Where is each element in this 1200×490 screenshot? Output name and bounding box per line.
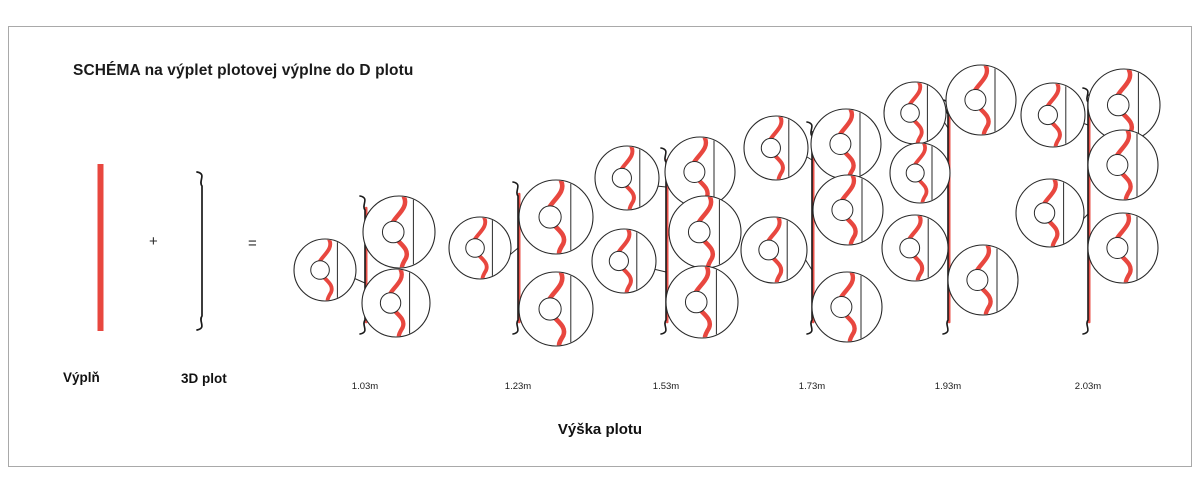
detail-callout xyxy=(669,196,741,268)
post-cross-section xyxy=(1107,155,1128,176)
detail-callout xyxy=(449,217,511,279)
post-cross-section xyxy=(832,200,853,221)
diagram-canvas: SCHÉMA na výplet plotovej výplne do D pl… xyxy=(0,0,1200,490)
equals-symbol: = xyxy=(248,235,257,252)
plus-symbol: + xyxy=(149,233,158,250)
post-cross-section xyxy=(906,164,924,182)
detail-callout xyxy=(592,229,656,293)
fence-post xyxy=(943,100,948,334)
post-cross-section xyxy=(311,261,330,280)
post-cross-section xyxy=(1107,238,1128,259)
post-cross-section xyxy=(1107,94,1129,116)
height-label-1.73m: 1.73m xyxy=(799,381,825,392)
legend-fill-label: Výplň xyxy=(63,370,100,385)
post-cross-section xyxy=(466,239,485,258)
post-cross-section xyxy=(1038,105,1057,124)
legend-fill-strip-icon xyxy=(98,164,104,331)
detail-callout xyxy=(1088,130,1158,200)
fence-group-1.73m xyxy=(741,109,883,342)
detail-callout xyxy=(1088,213,1158,283)
height-label-1.03m: 1.03m xyxy=(352,381,378,392)
height-label-2.03m: 2.03m xyxy=(1075,381,1101,392)
detail-callout xyxy=(519,180,593,254)
detail-callout xyxy=(884,82,946,144)
legend-post-label: 3D plot xyxy=(181,371,227,386)
post-cross-section xyxy=(831,297,852,318)
detail-callout xyxy=(741,217,807,283)
detail-callout xyxy=(666,266,738,338)
page-title: SCHÉMA na výplet plotovej výplne do D pl… xyxy=(73,62,413,80)
detail-callout xyxy=(519,272,593,346)
detail-callout xyxy=(948,245,1018,315)
post-cross-section xyxy=(685,291,707,313)
post-cross-section xyxy=(761,138,780,157)
post-cross-section xyxy=(965,90,986,111)
post-cross-section xyxy=(900,238,920,258)
detail-callout xyxy=(882,215,948,281)
detail-callout xyxy=(595,146,659,210)
post-cross-section xyxy=(688,221,710,243)
post-cross-section xyxy=(609,251,628,270)
post-cross-section xyxy=(901,104,920,123)
post-cross-section xyxy=(830,134,851,155)
post-cross-section xyxy=(539,298,561,320)
fence-group-1.53m xyxy=(592,137,741,338)
post-cross-section xyxy=(380,293,400,313)
detail-callout xyxy=(813,175,883,245)
height-label-1.53m: 1.53m xyxy=(653,381,679,392)
post-cross-section xyxy=(382,221,404,243)
detail-callout xyxy=(890,143,950,203)
post-cross-section xyxy=(539,206,561,228)
post-cross-section xyxy=(967,270,988,291)
detail-callout xyxy=(1021,83,1085,147)
fence-group-1.03m xyxy=(294,196,435,337)
fence-group-1.93m xyxy=(882,65,1018,334)
legend-post-icon xyxy=(197,172,202,330)
post-cross-section xyxy=(1034,203,1054,223)
post-cross-section xyxy=(759,240,779,260)
detail-callout xyxy=(363,196,435,268)
fence-group-2.03m xyxy=(1016,69,1160,334)
detail-callout xyxy=(744,116,808,180)
height-label-1.93m: 1.93m xyxy=(935,381,961,392)
height-label-1.23m: 1.23m xyxy=(505,381,531,392)
bottom-caption: Výška plotu xyxy=(558,421,642,438)
detail-callout xyxy=(946,65,1016,135)
detail-callout xyxy=(812,272,882,342)
post-cross-section xyxy=(684,162,705,183)
fence-post xyxy=(513,182,518,334)
fence-group-1.23m xyxy=(449,180,593,346)
detail-callout xyxy=(811,109,881,179)
post-cross-section xyxy=(612,168,631,187)
detail-callout xyxy=(362,269,430,337)
detail-callout xyxy=(1016,179,1084,247)
detail-callout xyxy=(294,239,356,301)
